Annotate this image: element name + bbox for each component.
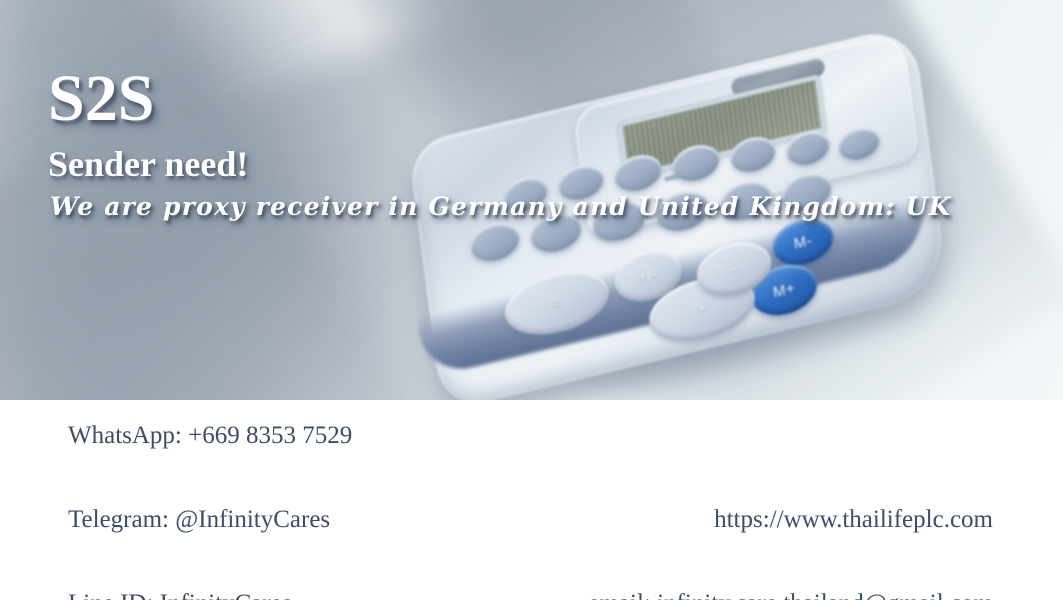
contact-row: Telegram: @InfinityCares https://www.tha…: [0, 506, 1063, 548]
contact-whatsapp[interactable]: WhatsApp: +669 8353 7529: [68, 422, 352, 450]
business-card-banner: M- M+ = +/- + - S2S Sender need! We are …: [0, 0, 1063, 600]
hero-tagline: We are proxy receiver in Germany and Uni…: [50, 194, 952, 219]
contact-website-link[interactable]: https://www.thailifeplc.com: [714, 506, 993, 534]
hero-text-block: S2S Sender need! We are proxy receiver i…: [48, 66, 952, 219]
contact-email[interactable]: email: infinity.care.thailand@gmail.com: [588, 590, 993, 600]
contact-row: WhatsApp: +669 8353 7529: [0, 422, 1063, 464]
contact-footer: WhatsApp: +669 8353 7529 Telegram: @Infi…: [0, 400, 1063, 600]
contact-telegram[interactable]: Telegram: @InfinityCares: [68, 506, 330, 534]
brand-title: S2S: [48, 66, 952, 132]
contact-line-id[interactable]: Line ID: InfinityCares: [68, 590, 292, 600]
hero-photo-banner: M- M+ = +/- + - S2S Sender need! We are …: [0, 0, 1063, 400]
contact-grid: WhatsApp: +669 8353 7529 Telegram: @Infi…: [0, 400, 1063, 526]
contact-row: Line ID: InfinityCares email: infinity.c…: [0, 590, 1063, 600]
hero-headline: Sender need!: [48, 146, 952, 182]
